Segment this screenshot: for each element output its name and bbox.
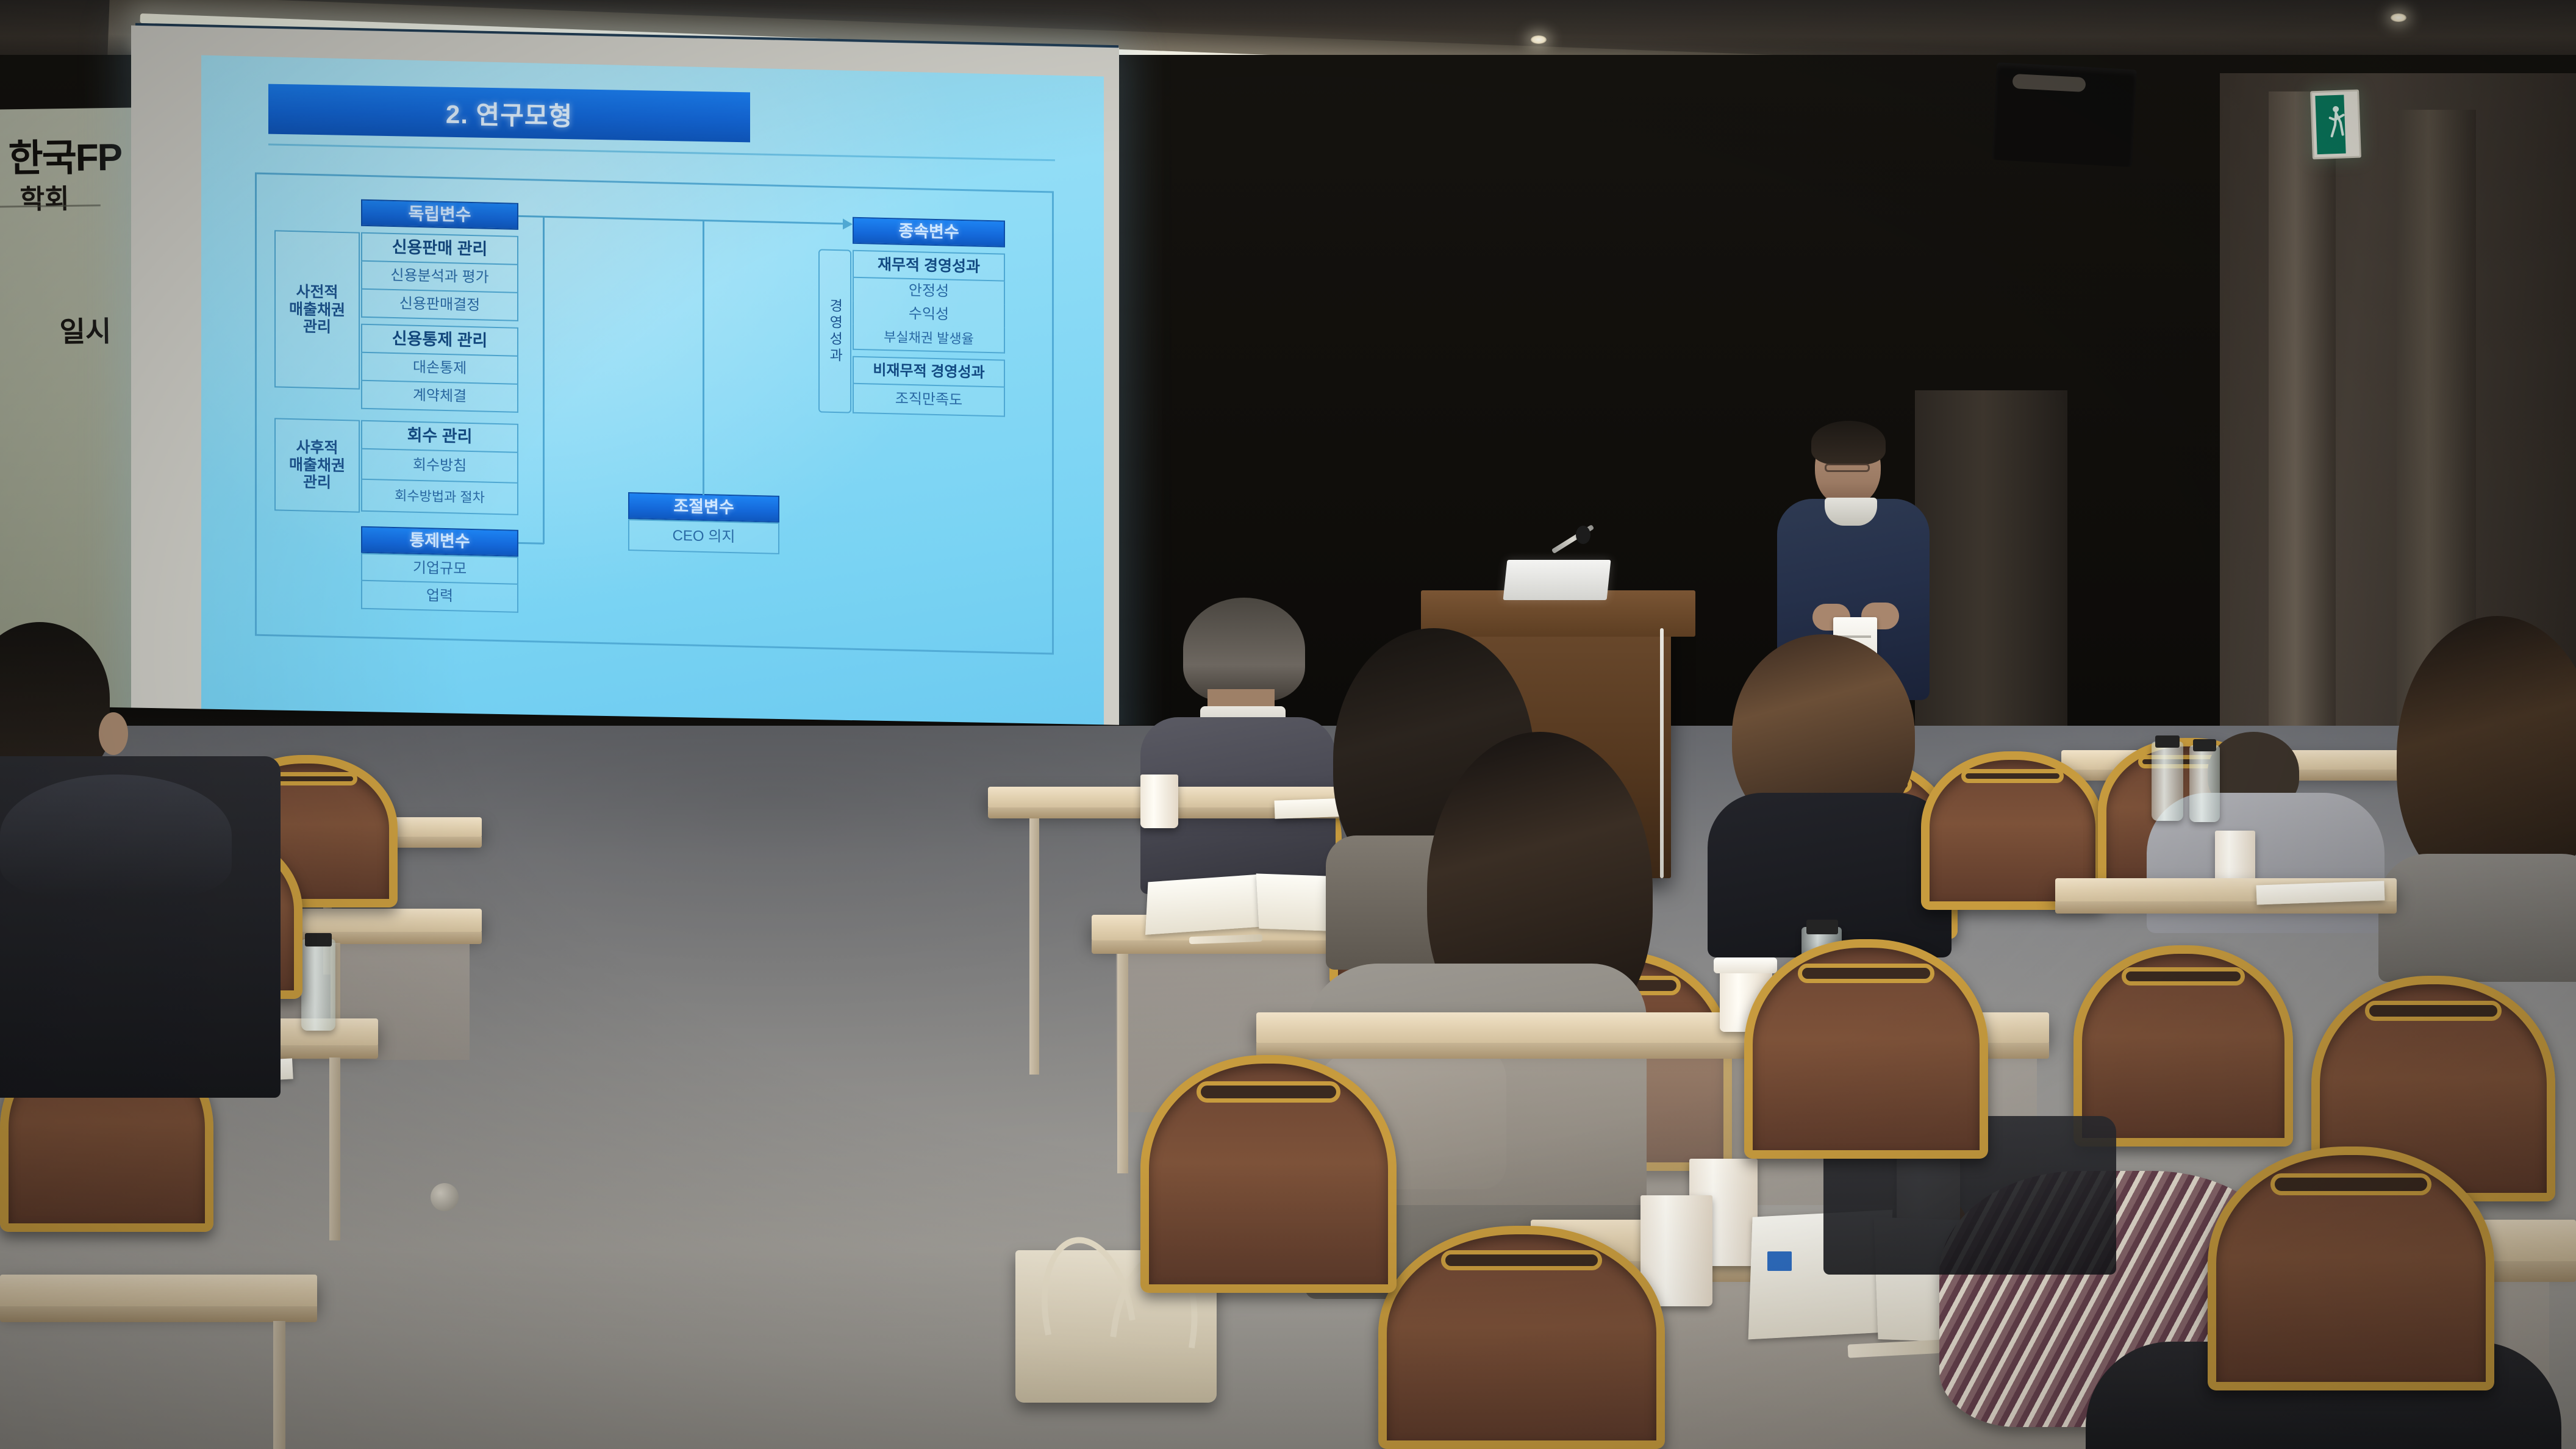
table-leg <box>273 1321 285 1449</box>
conference-room-photo: 한국FP 학회 일시 2. 연구모형 독립변수 사전적 매출채권 관리 신용판매… <box>0 0 2576 1449</box>
audience-person-left-foreground <box>0 622 342 1122</box>
dependent-block1-item-2: 부실채권 발생율 <box>853 324 1005 354</box>
independent-block2-title: 신용통제 관리 <box>361 324 518 357</box>
dependent-header: 종속변수 <box>853 217 1005 248</box>
independent-block1-item-0: 신용분석과 평가 <box>361 262 518 293</box>
control-item-0: 기업규모 <box>361 553 518 585</box>
table-edge <box>0 1306 317 1322</box>
table-caster-wheel <box>431 1183 459 1211</box>
running-man-icon <box>2328 104 2345 147</box>
slide-title: 2. 연구모형 <box>268 84 750 143</box>
downlight <box>1531 35 1547 44</box>
water-bottle-right-1[interactable] <box>2152 742 2183 821</box>
audience-person-far-right <box>2360 616 2576 982</box>
dependent-block1-item-1: 수익성 <box>853 301 1005 328</box>
moderating-item-0: CEO 의지 <box>628 519 779 554</box>
chair-back-slot <box>1197 1081 1340 1103</box>
chair-back-slot <box>2270 1173 2431 1195</box>
chair-back-slot <box>1441 1250 1601 1270</box>
table-bottom-left <box>0 1275 317 1309</box>
dependent-block2-title: 비재무적 경영성과 <box>853 356 1005 388</box>
chair-right-front-1[interactable] <box>2073 945 2293 1147</box>
banner-title: 한국FP <box>8 126 122 183</box>
independent-block2-item-0: 대손통제 <box>361 353 518 385</box>
chair-mid-extra-2[interactable] <box>1140 1055 1397 1293</box>
chair-foreground-right[interactable] <box>1378 1226 1665 1449</box>
connector-control-vertical <box>543 217 545 544</box>
audience-left-hair <box>0 622 110 775</box>
audience-left-ear <box>99 712 128 755</box>
water-bottle-right-2[interactable] <box>2189 745 2220 822</box>
table-leg <box>1117 954 1128 1173</box>
moderating-header: 조절변수 <box>628 492 779 523</box>
chair-back-slot <box>1961 769 2064 783</box>
audience-left-shoulder-highlight <box>0 775 232 896</box>
presenter-glasses-icon <box>1825 463 1870 472</box>
independent-block3-item-0: 회수방침 <box>361 449 518 484</box>
table-edge <box>2055 901 2397 914</box>
chair-mid-extra-3[interactable] <box>2208 1147 2494 1390</box>
dependent-block2-item-0: 조직만족도 <box>853 384 1005 417</box>
independent-group1-side-label: 사전적 매출채권 관리 <box>274 230 360 389</box>
banner-date-label: 일시 <box>59 309 112 350</box>
independent-block3-title: 회수 관리 <box>361 420 518 453</box>
independent-block3-item-1: 회수방법과 절차 <box>361 480 518 515</box>
emergency-exit-sign <box>2310 90 2361 160</box>
independent-block1-title: 신용판매 관리 <box>361 232 518 265</box>
independent-block1-item-1: 신용판매결정 <box>361 290 518 321</box>
independent-header: 독립변수 <box>361 199 518 230</box>
downlight <box>2391 13 2406 22</box>
chair-back-slot <box>1798 964 1934 983</box>
bottle-cap <box>2155 735 2180 748</box>
connector-moderating-vertical <box>703 221 704 495</box>
table-leg <box>1029 818 1039 1075</box>
banner-subtitle: 학회 <box>20 177 70 216</box>
audience-person-center-right <box>1695 634 1952 951</box>
dependent-block1-item-0: 안정성 <box>853 278 1005 305</box>
independent-block2-item-1: 계약체결 <box>361 381 518 413</box>
binder-clip <box>1767 1251 1792 1271</box>
control-header: 통제변수 <box>361 526 518 557</box>
dependent-side-label: 경영성과 <box>827 298 843 365</box>
open-booklet-left-page <box>1145 874 1264 935</box>
far-right-body <box>2378 854 2576 982</box>
presenter-collar <box>1825 498 1877 526</box>
presenter-hair <box>1811 421 1886 465</box>
dependent-block1-title: 재무적 경영성과 <box>853 250 1005 282</box>
microphone-head-icon <box>1576 526 1590 544</box>
chair-mid-extra-1[interactable] <box>1744 939 1988 1159</box>
chair-back-slot <box>2365 1001 2502 1021</box>
paper-cup-center-left[interactable] <box>1140 775 1178 828</box>
slide-title-rule <box>268 143 1055 161</box>
bottle-cap <box>2193 739 2216 751</box>
bottle-cap <box>1806 920 1838 934</box>
dependent-side-label-box: 경영성과 <box>818 249 851 413</box>
chair-back-slot <box>2122 967 2245 986</box>
independent-group2-side-label: 사후적 매출채권 관리 <box>274 418 360 512</box>
control-item-1: 업력 <box>361 581 518 613</box>
presenter-laptop[interactable] <box>1503 560 1611 600</box>
suit-man-hair <box>1183 598 1305 701</box>
connector-arrow-head <box>843 218 853 229</box>
